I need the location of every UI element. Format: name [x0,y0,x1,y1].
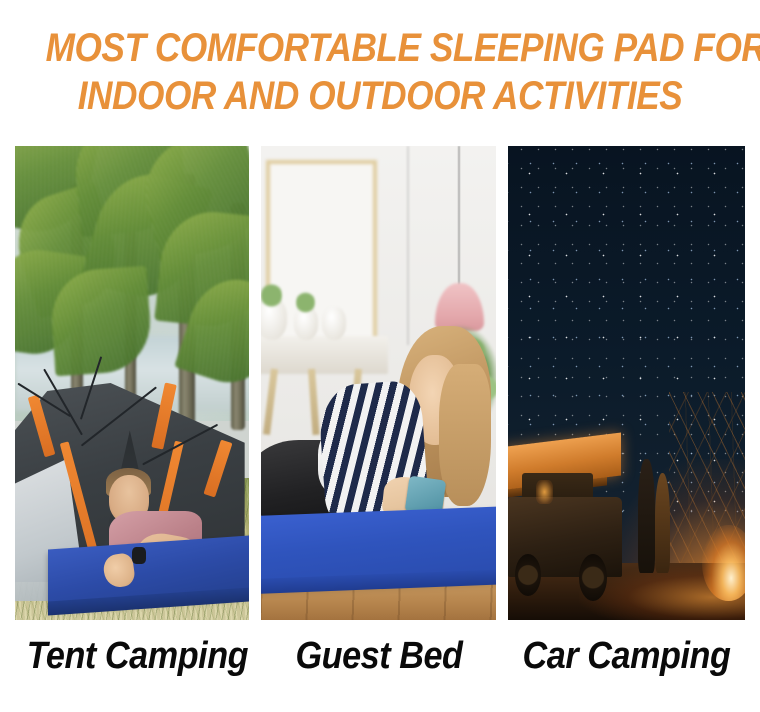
wall-edge-line [407,146,409,345]
product-marketing-image: { "headline": { "line1": "MOST COMFORTAB… [0,0,760,712]
smartwatch [132,547,146,564]
small-potted-plant [296,288,315,316]
console-table [261,336,388,374]
camper-person [638,459,655,573]
panel-strip [15,146,745,620]
caption-tent-camping: Tent Camping [27,628,239,698]
caption-guest-bed: Guest Bed [274,628,485,698]
panel-tent-camping [15,146,249,620]
panel-car-camping [508,146,745,620]
vehicle-window-light [536,480,553,504]
woman-hair-front [439,364,491,506]
caption-row: Tent Camping Guest Bed Car Camping [15,628,745,698]
headline-line-1: MOST COMFORTABLE SLEEPING PAD FOR [46,24,715,72]
panel-guest-bed [261,146,495,620]
decor-vase [322,307,345,340]
vehicle-wheel [515,554,541,597]
campfire [702,525,745,601]
page-title: MOST COMFORTABLE SLEEPING PAD FOR INDOOR… [46,24,715,120]
camper-person [655,473,670,573]
caption-car-camping: Car Camping [520,628,733,698]
headline-line-2: INDOOR AND OUTDOOR ACTIVITIES [46,72,715,120]
pendant-lamp-cord [458,146,460,288]
